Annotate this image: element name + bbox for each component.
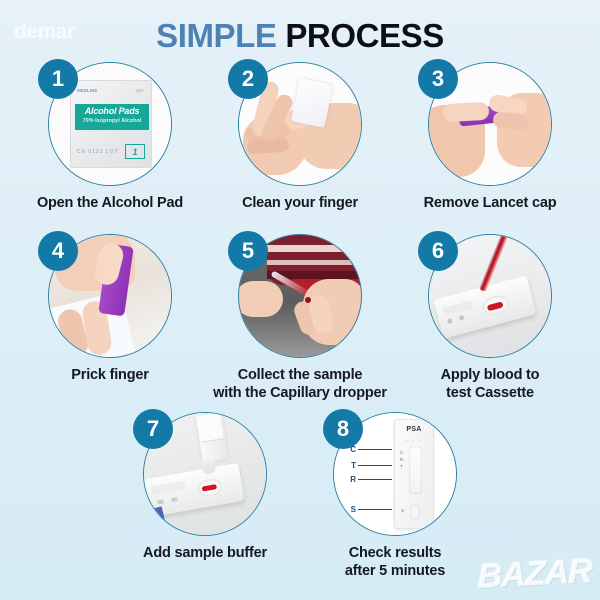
step-5-badge: 5 (228, 231, 268, 271)
step-8-caption: Check results after 5 minutes (295, 545, 495, 580)
step-2-badge: 2 (228, 59, 268, 99)
leader-line-r: R (348, 475, 392, 484)
step-4-caption: Prick finger (10, 367, 210, 385)
sample-letter: S (401, 508, 404, 513)
step-7: 7 Add sample buffer (110, 412, 300, 592)
steps-grid: MEDLINE REF Alcohol Pads 70% Isopropyl A… (0, 62, 600, 592)
cassette-ticks: - - - (395, 438, 433, 444)
page-title-blue: SIMPLE (156, 17, 276, 54)
step-6-circle: 6 (428, 234, 552, 358)
packet-quantity: 1 (125, 144, 145, 159)
steps-row-2: 4 Prick finger (0, 234, 600, 412)
sample-window (410, 504, 420, 520)
leader-line-s: S (348, 505, 392, 514)
step-6: 6 Apply blood to test Cassette (395, 234, 585, 412)
leader-line-t: T (348, 461, 392, 470)
step-2-caption: Clean your finger (200, 195, 400, 213)
step-7-badge: 7 (133, 409, 173, 449)
step-3-caption: Remove Lancet cap (390, 195, 590, 213)
steps-row-1: MEDLINE REF Alcohol Pads 70% Isopropyl A… (0, 62, 600, 234)
step-7-caption: Add sample buffer (105, 545, 305, 563)
cassette-brand: PSA (395, 426, 433, 433)
packet-marks: CE 0123 LOT (77, 149, 119, 155)
packet-product-name: Alcohol Pads (75, 106, 149, 116)
step-6-badge: 6 (418, 231, 458, 271)
step-8-circle: PSA - - - C R T S C T (333, 412, 457, 536)
step-6-caption: Apply blood to test Cassette (390, 367, 590, 402)
step-5-circle: 5 (238, 234, 362, 358)
step-3: 3 Remove Lancet cap (395, 62, 585, 234)
leader-label-r: R (348, 475, 356, 484)
page-title-dark: PROCESS (277, 17, 444, 54)
alcohol-pad-packet: MEDLINE REF Alcohol Pads 70% Isopropyl A… (70, 80, 152, 168)
steps-row-3: 7 Add sample buffer PSA - - - C R T (0, 412, 600, 592)
step-5-caption: Collect the sample with the Capillary dr… (200, 367, 400, 402)
page-title: SIMPLE PROCESS (0, 17, 600, 55)
step-5: 5 Collect the sample with the Capillary … (205, 234, 395, 412)
step-2-circle: 2 (238, 62, 362, 186)
step-4-circle: 4 (48, 234, 172, 358)
step-4-badge: 4 (38, 231, 78, 271)
packet-brand: MEDLINE (77, 88, 97, 93)
result-window (409, 446, 422, 494)
step-1-caption: Open the Alcohol Pad (10, 195, 210, 213)
packet-label-band: Alcohol Pads 70% Isopropyl Alcohol (75, 104, 149, 130)
step-1-circle: MEDLINE REF Alcohol Pads 70% Isopropyl A… (48, 62, 172, 186)
step-4: 4 Prick finger (15, 234, 205, 412)
leader-label-s: S (348, 505, 356, 514)
leader-label-t: T (348, 461, 356, 470)
strip-letters: C R T (400, 450, 403, 470)
step-8-badge: 8 (323, 409, 363, 449)
step-3-badge: 3 (418, 59, 458, 99)
packet-ref: REF (136, 88, 144, 93)
step-7-circle: 7 (143, 412, 267, 536)
leader-line-c: C (348, 445, 392, 454)
step-8: PSA - - - C R T S C T (300, 412, 490, 592)
step-2: 2 Clean your finger (205, 62, 395, 234)
step-1: MEDLINE REF Alcohol Pads 70% Isopropyl A… (15, 62, 205, 234)
blood-drop (305, 297, 311, 303)
step-3-circle: 3 (428, 62, 552, 186)
step-1-badge: 1 (38, 59, 78, 99)
psa-test-cassette: PSA - - - C R T S (394, 419, 434, 529)
packet-subtitle: 70% Isopropyl Alcohol (75, 118, 149, 124)
